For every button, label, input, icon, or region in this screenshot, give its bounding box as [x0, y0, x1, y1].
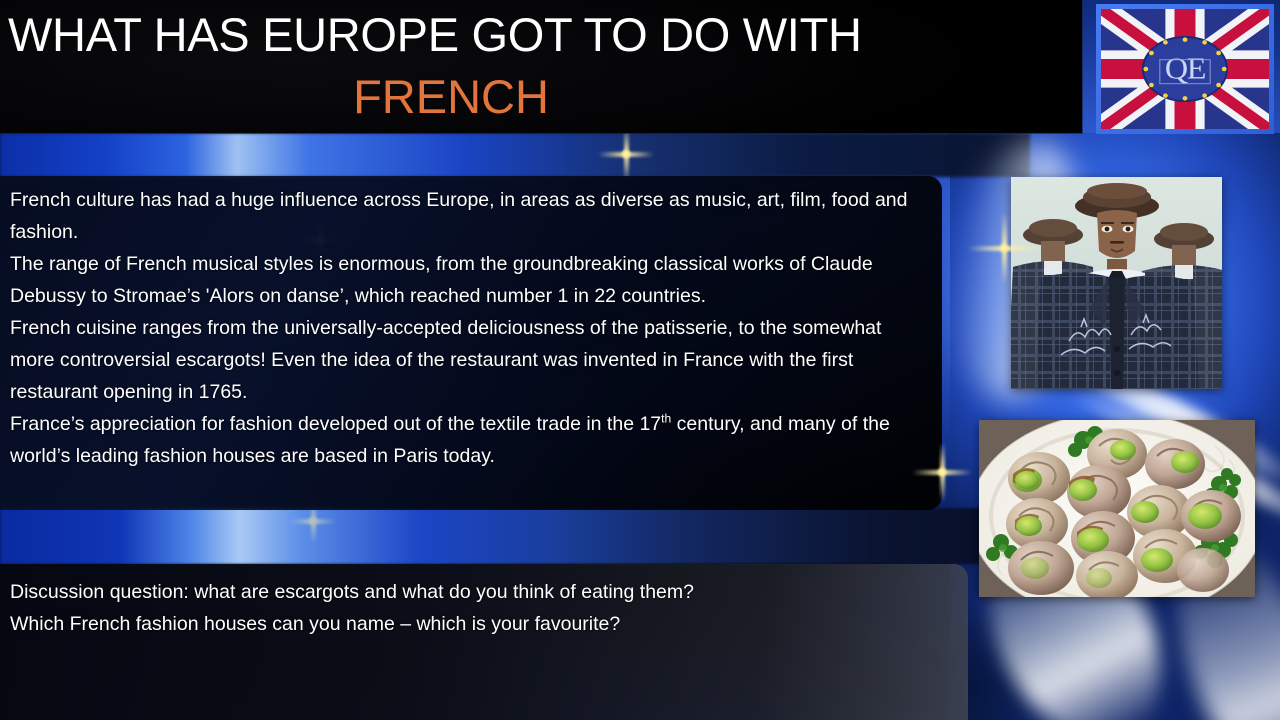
discussion-line-1: Discussion question: what are escargots …: [10, 576, 948, 608]
main-content-text-box: French culture has had a huge influence …: [0, 176, 942, 510]
school-logo: QE: [1096, 4, 1274, 134]
paragraph-cuisine: French cuisine ranges from the universal…: [10, 312, 922, 408]
page-subtitle-language: FRENCH: [0, 58, 1082, 120]
discussion-question-box: Discussion question: what are escargots …: [0, 564, 968, 720]
paragraph-fashion: France’s appreciation for fashion develo…: [10, 408, 922, 472]
page-title: WHAT HAS EUROPE GOT TO DO WITH: [0, 0, 1082, 58]
stromae-photo-svg: [1011, 177, 1222, 389]
discussion-line-2: Which French fashion houses can you name…: [10, 608, 948, 640]
stromae-fashion-photo: [1011, 177, 1222, 389]
paragraph-culture: French culture has had a huge influence …: [10, 184, 922, 248]
ordinal-superscript: th: [661, 412, 671, 426]
union-jack-eu-flag-icon: QE: [1101, 9, 1269, 129]
logo-monogram-text: QE: [1165, 51, 1205, 85]
paragraph-music: The range of French musical styles is en…: [10, 248, 922, 312]
slide-title-bar: WHAT HAS EUROPE GOT TO DO WITH FRENCH: [0, 0, 1082, 133]
fashion-text-part-1: France’s appreciation for fashion develo…: [10, 413, 661, 435]
union-jack-svg: QE: [1101, 9, 1269, 129]
escargots-photo: [979, 420, 1255, 597]
escargots-photo-svg: [979, 420, 1255, 597]
slide-canvas: WHAT HAS EUROPE GOT TO DO WITH FRENCH: [0, 0, 1280, 720]
background-blue-band-upper: [0, 133, 1030, 177]
background-blue-band-lower: [0, 508, 1000, 564]
